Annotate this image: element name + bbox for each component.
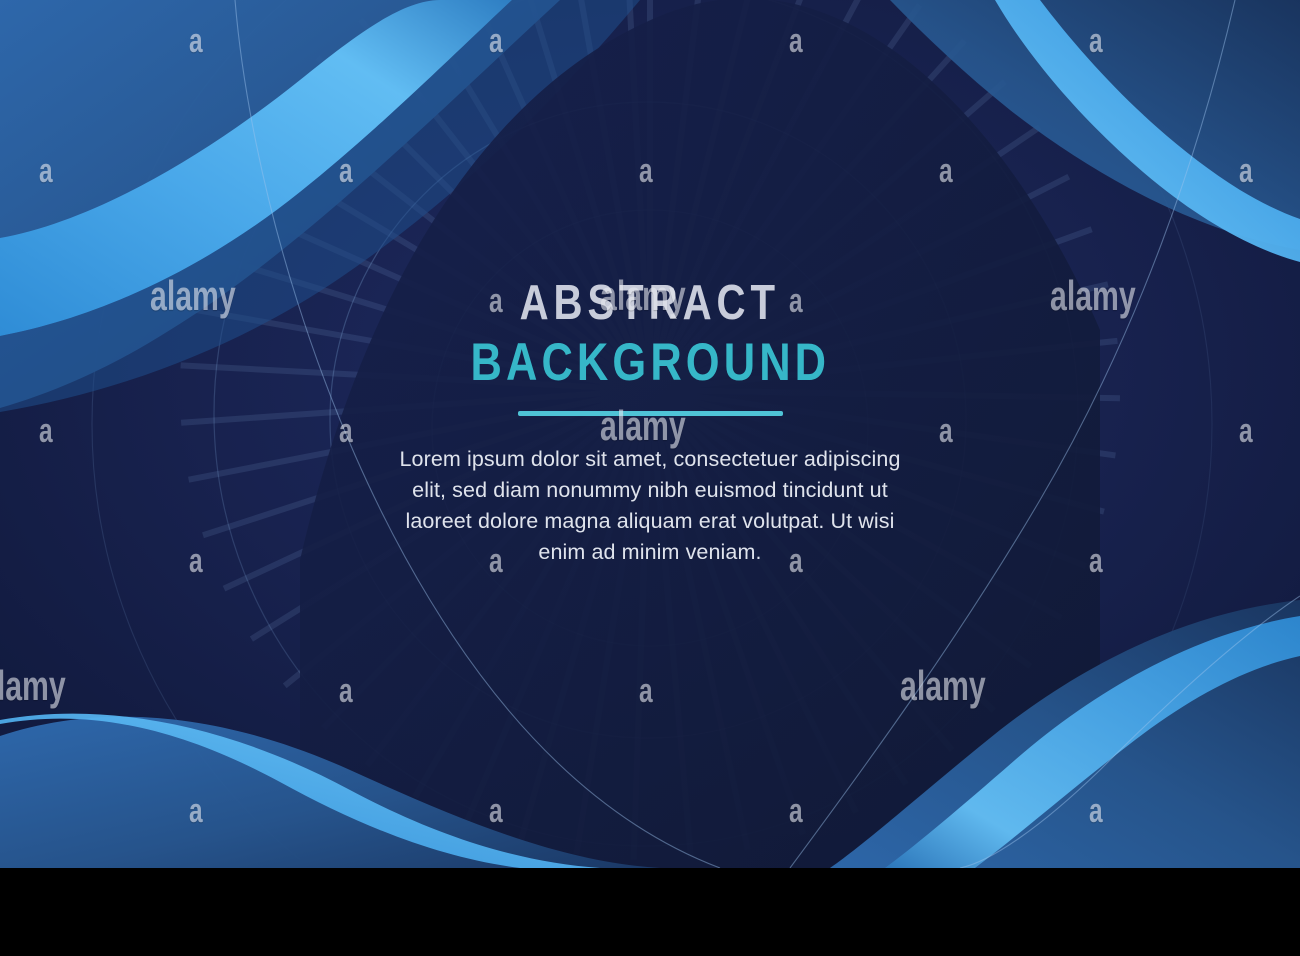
wave-ribbons-layer — [0, 0, 1300, 868]
screenshot-root: ABSTRACT BACKGROUND Lorem ipsum dolor si… — [0, 0, 1300, 956]
abstract-background-artwork: ABSTRACT BACKGROUND Lorem ipsum dolor si… — [0, 0, 1300, 868]
alamy-footer-bar: alamy Image ID: 2EAPD53 www.alamy.com — [0, 868, 1300, 956]
